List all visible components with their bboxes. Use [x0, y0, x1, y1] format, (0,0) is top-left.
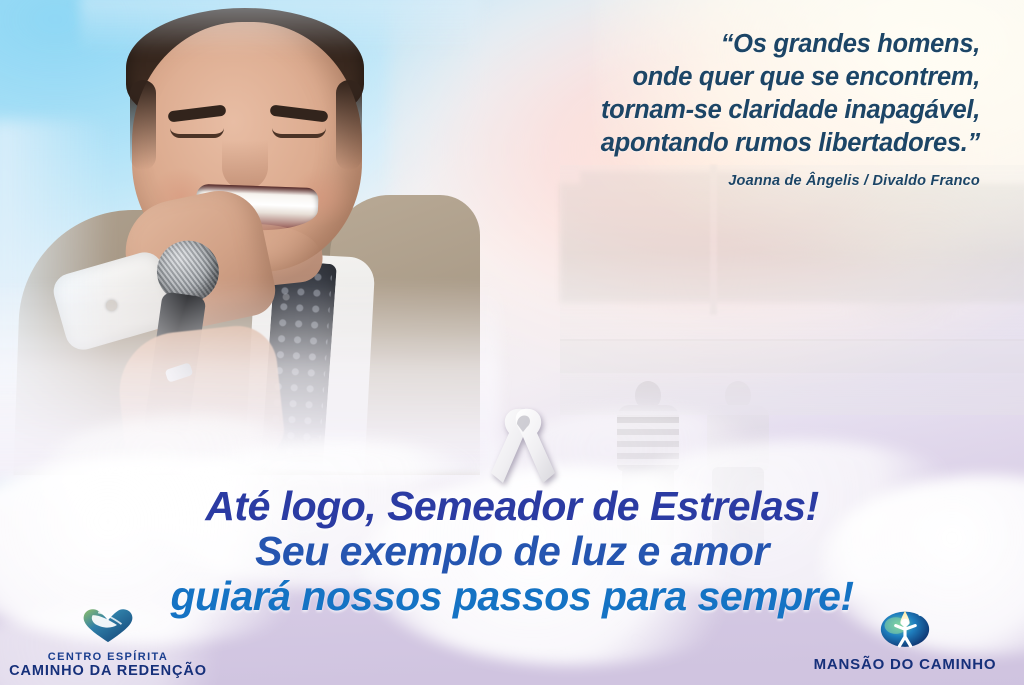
headline-block: Até logo, Semeador de Estrelas! Seu exem…: [0, 484, 1024, 619]
portrait-fade-bottom: [0, 280, 500, 480]
quote-line-4: apontando rumos libertadores.”: [420, 127, 980, 160]
two-people-walking-photo: [560, 165, 1024, 415]
logo-centro-espirita[interactable]: CENTRO ESPÍRITA CAMINHO DA REDENÇÃO: [8, 607, 208, 679]
portrait-photo: [0, 0, 470, 470]
headline-line-2: Seu exemplo de luz e amor: [0, 529, 1024, 574]
scene-fade-overlay: [560, 165, 1024, 415]
logo-mansao-do-caminho[interactable]: MANSÃO DO CAMINHO: [800, 605, 1010, 673]
globe-figure-icon: [800, 605, 1010, 653]
quote-line-3: tornam-se claridade inapagável,: [420, 94, 980, 127]
nose: [222, 140, 268, 190]
logo-right-line-1: MANSÃO DO CAMINHO: [800, 656, 1010, 673]
logo-left-line-1: CENTRO ESPÍRITA: [8, 651, 208, 663]
quote-block: “Os grandes homens, onde quer que se enc…: [420, 28, 980, 189]
quote-line-1: “Os grandes homens,: [420, 28, 980, 61]
quote-line-2: onde quer que se encontrem,: [420, 61, 980, 94]
headline-line-1: Até logo, Semeador de Estrelas!: [0, 484, 1024, 529]
quote-attribution: Joanna de Ângelis / Divaldo Franco: [420, 173, 980, 189]
eye-left: [170, 128, 224, 138]
heart-hands-icon: [8, 607, 208, 648]
sideburn-right: [336, 80, 362, 170]
eye-right: [272, 128, 326, 138]
logo-left-line-2: CAMINHO DA REDENÇÃO: [8, 663, 208, 679]
white-awareness-ribbon-icon: [487, 407, 559, 485]
memorial-poster: “Os grandes homens, onde quer que se enc…: [0, 0, 1024, 685]
